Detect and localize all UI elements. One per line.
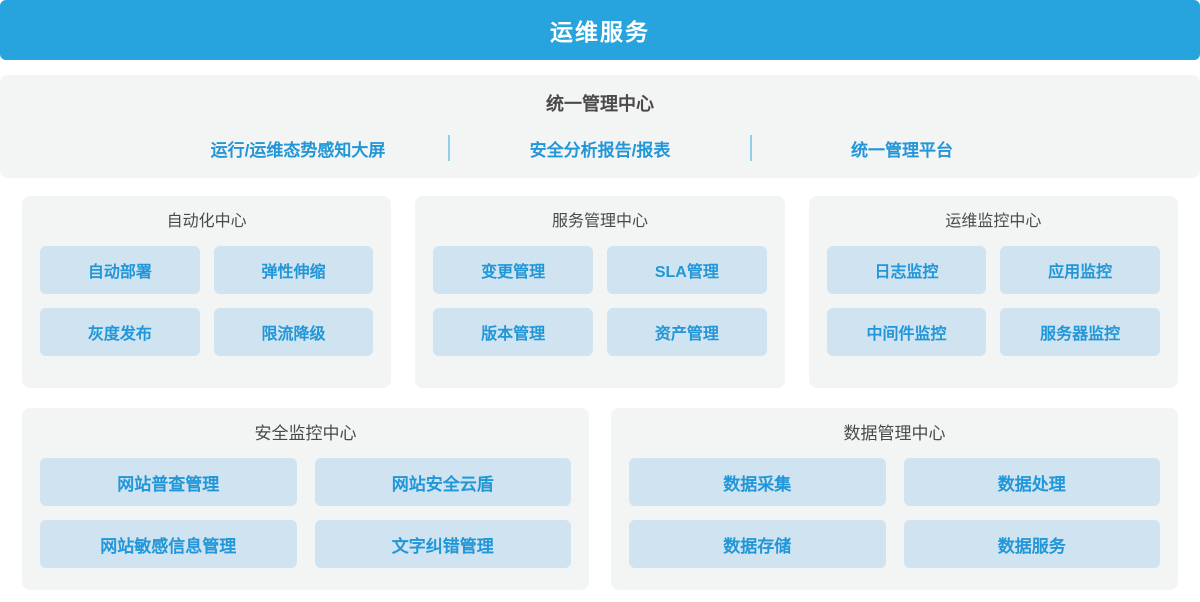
management-center-panel: 统一管理中心 运行/运维态势感知大屏 安全分析报告/报表 统一管理平台 — [0, 75, 1200, 178]
panel-row-bottom: 安全监控中心 网站普查管理 网站安全云盾 网站敏感信息管理 文字纠错管理 数据管… — [22, 408, 1178, 590]
panel-title: 安全监控中心 — [40, 422, 571, 446]
panel-item[interactable]: 中间件监控 — [827, 308, 987, 356]
panel-title: 运维监控中心 — [827, 210, 1160, 234]
management-center-links: 运行/运维态势感知大屏 安全分析报告/报表 统一管理平台 — [0, 134, 1200, 162]
panel-item[interactable]: 日志监控 — [827, 246, 987, 294]
panel-item[interactable]: 网站安全云盾 — [315, 458, 572, 506]
panel-item[interactable]: 网站普查管理 — [40, 458, 297, 506]
panel-item[interactable]: 变更管理 — [433, 246, 593, 294]
architecture-diagram: 运维服务 统一管理中心 运行/运维态势感知大屏 安全分析报告/报表 统一管理平台… — [0, 0, 1200, 602]
panel-item[interactable]: 灰度发布 — [40, 308, 200, 356]
management-center-title: 统一管理中心 — [0, 92, 1200, 116]
panel-item[interactable]: 服务器监控 — [1000, 308, 1160, 356]
panel-item[interactable]: 版本管理 — [433, 308, 593, 356]
panel-item[interactable]: 网站敏感信息管理 — [40, 520, 297, 568]
panel-item-grid: 数据采集 数据处理 数据存储 数据服务 — [629, 458, 1160, 568]
panel-item[interactable]: 文字纠错管理 — [315, 520, 572, 568]
panel-item[interactable]: 数据采集 — [629, 458, 886, 506]
panel-row-top: 自动化中心 自动部署 弹性伸缩 灰度发布 限流降级 服务管理中心 变更管理 SL… — [22, 196, 1178, 388]
panel-item[interactable]: 弹性伸缩 — [214, 246, 374, 294]
panel-automation-center: 自动化中心 自动部署 弹性伸缩 灰度发布 限流降级 — [22, 196, 391, 388]
panel-item[interactable]: 数据处理 — [904, 458, 1161, 506]
panel-item[interactable]: 数据存储 — [629, 520, 886, 568]
management-link-platform[interactable]: 统一管理平台 — [752, 136, 1052, 161]
panel-title: 数据管理中心 — [629, 422, 1160, 446]
panel-item[interactable]: 数据服务 — [904, 520, 1161, 568]
panel-item-grid: 网站普查管理 网站安全云盾 网站敏感信息管理 文字纠错管理 — [40, 458, 571, 568]
panel-service-management-center: 服务管理中心 变更管理 SLA管理 版本管理 资产管理 — [415, 196, 784, 388]
panel-item-grid: 自动部署 弹性伸缩 灰度发布 限流降级 — [40, 246, 373, 356]
panel-security-monitoring-center: 安全监控中心 网站普查管理 网站安全云盾 网站敏感信息管理 文字纠错管理 — [22, 408, 589, 590]
management-link-dashboard[interactable]: 运行/运维态势感知大屏 — [148, 136, 448, 161]
management-link-report[interactable]: 安全分析报告/报表 — [450, 136, 750, 161]
panel-item[interactable]: 应用监控 — [1000, 246, 1160, 294]
panel-item[interactable]: 资产管理 — [607, 308, 767, 356]
panel-item-grid: 日志监控 应用监控 中间件监控 服务器监控 — [827, 246, 1160, 356]
banner-title: 运维服务 — [550, 13, 650, 47]
banner: 运维服务 — [0, 0, 1200, 60]
panel-item[interactable]: 限流降级 — [214, 308, 374, 356]
panel-data-management-center: 数据管理中心 数据采集 数据处理 数据存储 数据服务 — [611, 408, 1178, 590]
panel-title: 自动化中心 — [40, 210, 373, 234]
panel-item-grid: 变更管理 SLA管理 版本管理 资产管理 — [433, 246, 766, 356]
panel-item[interactable]: SLA管理 — [607, 246, 767, 294]
panel-title: 服务管理中心 — [433, 210, 766, 234]
panel-ops-monitoring-center: 运维监控中心 日志监控 应用监控 中间件监控 服务器监控 — [809, 196, 1178, 388]
panel-item[interactable]: 自动部署 — [40, 246, 200, 294]
